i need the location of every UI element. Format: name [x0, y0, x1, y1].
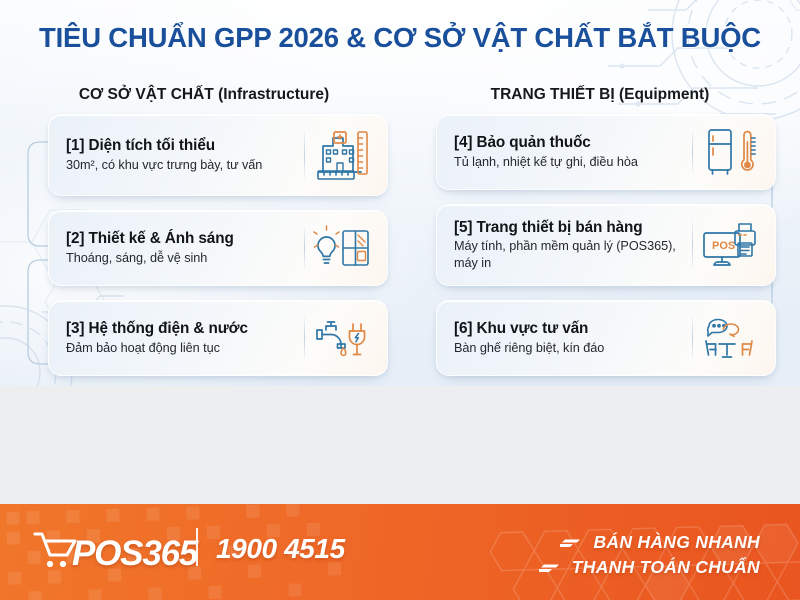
- footer-bar: POS365 1900 4515 BÁN HÀNG NHANH: [0, 504, 800, 600]
- card-text: [6] Khu vực tư vấn Bàn ghế riêng biệt, k…: [454, 320, 692, 356]
- card-description: Đảm bảo hoạt động liên tục: [66, 340, 296, 357]
- card-text: [2] Thiết kế & Ánh sáng Thoáng, sáng, dễ…: [66, 230, 304, 266]
- logo-text: POS365: [72, 536, 197, 571]
- column-heading-equipment: TRANG THIẾT BỊ (Equipment): [420, 86, 780, 104]
- column-infrastructure: [1] Diện tích tối thiểu 30m², có khu vực…: [48, 114, 388, 386]
- card-equipment-5[interactable]: [5] Trang thiết bị bán hàng Máy tính, ph…: [436, 204, 776, 286]
- card-title: [3] Hệ thống điện & nước: [66, 320, 296, 338]
- card-text: [5] Trang thiết bị bán hàng Máy tính, ph…: [454, 219, 692, 272]
- pos-monitor-printer-icon: POS: [693, 205, 767, 285]
- card-title: [2] Thiết kế & Ánh sáng: [66, 230, 296, 248]
- card-title: [4] Bảo quản thuốc: [454, 134, 684, 152]
- card-title: [1] Diện tích tối thiểu: [66, 137, 296, 155]
- pos365-logo[interactable]: POS365: [32, 533, 197, 573]
- column-equipment: [4] Bảo quản thuốc Tủ lạnh, nhiệt kế tự …: [436, 114, 776, 386]
- column-heading-infrastructure: CƠ SỞ VẬT CHẤT (Infrastructure): [24, 86, 384, 104]
- slogan-line-2-wrap: THANH TOÁN CHUẨN: [539, 555, 760, 580]
- card-infrastructure-3[interactable]: [3] Hệ thống điện & nước Đảm bảo hoạt độ…: [48, 300, 388, 376]
- card-equipment-6[interactable]: [6] Khu vực tư vấn Bàn ghế riêng biệt, k…: [436, 300, 776, 376]
- card-title: [5] Trang thiết bị bán hàng: [454, 219, 684, 237]
- pharmacy-building-ruler-icon: [305, 115, 379, 195]
- speed-lines-icon: [539, 562, 565, 573]
- card-description: Máy tính, phần mềm quản lý (POS365), máy…: [454, 238, 684, 271]
- infographic-canvas: TIÊU CHUẨN GPP 2026 & CƠ SỞ VẬT CHẤT BẮT…: [0, 0, 800, 600]
- slogan-line-1: BÁN HÀNG NHANH: [593, 530, 760, 555]
- card-description: Bàn ghế riêng biệt, kín đáo: [454, 340, 684, 357]
- faucet-plug-icon: [305, 301, 379, 375]
- card-description: 30m², có khu vực trưng bày, tư vấn: [66, 157, 296, 174]
- svg-text:POS: POS: [712, 240, 735, 252]
- card-text: [3] Hệ thống điện & nước Đảm bảo hoạt độ…: [66, 320, 304, 356]
- chat-table-chairs-icon: [693, 301, 767, 375]
- card-text: [1] Diện tích tối thiểu 30m², có khu vực…: [66, 137, 304, 173]
- slogan-line-1-wrap: BÁN HÀNG NHANH: [539, 530, 760, 555]
- infographic-panel: TIÊU CHUẨN GPP 2026 & CƠ SỞ VẬT CHẤT BẮT…: [0, 0, 800, 386]
- slogan-line-2: THANH TOÁN CHUẨN: [572, 555, 760, 580]
- lightbulb-window-icon: [305, 211, 379, 285]
- logo-hotline-divider: [196, 528, 198, 566]
- card-text: [4] Bảo quản thuốc Tủ lạnh, nhiệt kế tự …: [454, 134, 692, 170]
- footer-content: POS365 1900 4515 BÁN HÀNG NHANH: [0, 504, 800, 600]
- speed-lines-icon: [560, 537, 586, 548]
- card-description: Thoáng, sáng, dễ vệ sinh: [66, 250, 296, 267]
- footer-slogan: BÁN HÀNG NHANH THANH TOÁN CHUẨN: [539, 530, 760, 580]
- hotline-number[interactable]: 1900 4515: [216, 535, 345, 563]
- card-infrastructure-1[interactable]: [1] Diện tích tối thiểu 30m², có khu vực…: [48, 114, 388, 196]
- card-infrastructure-2[interactable]: [2] Thiết kế & Ánh sáng Thoáng, sáng, dễ…: [48, 210, 388, 286]
- card-title: [6] Khu vực tư vấn: [454, 320, 684, 338]
- card-equipment-4[interactable]: [4] Bảo quản thuốc Tủ lạnh, nhiệt kế tự …: [436, 114, 776, 190]
- fridge-thermometer-icon: [693, 115, 767, 189]
- card-description: Tủ lạnh, nhiệt kế tự ghi, điều hòa: [454, 154, 684, 171]
- page-title: TIÊU CHUẨN GPP 2026 & CƠ SỞ VẬT CHẤT BẮT…: [0, 22, 800, 54]
